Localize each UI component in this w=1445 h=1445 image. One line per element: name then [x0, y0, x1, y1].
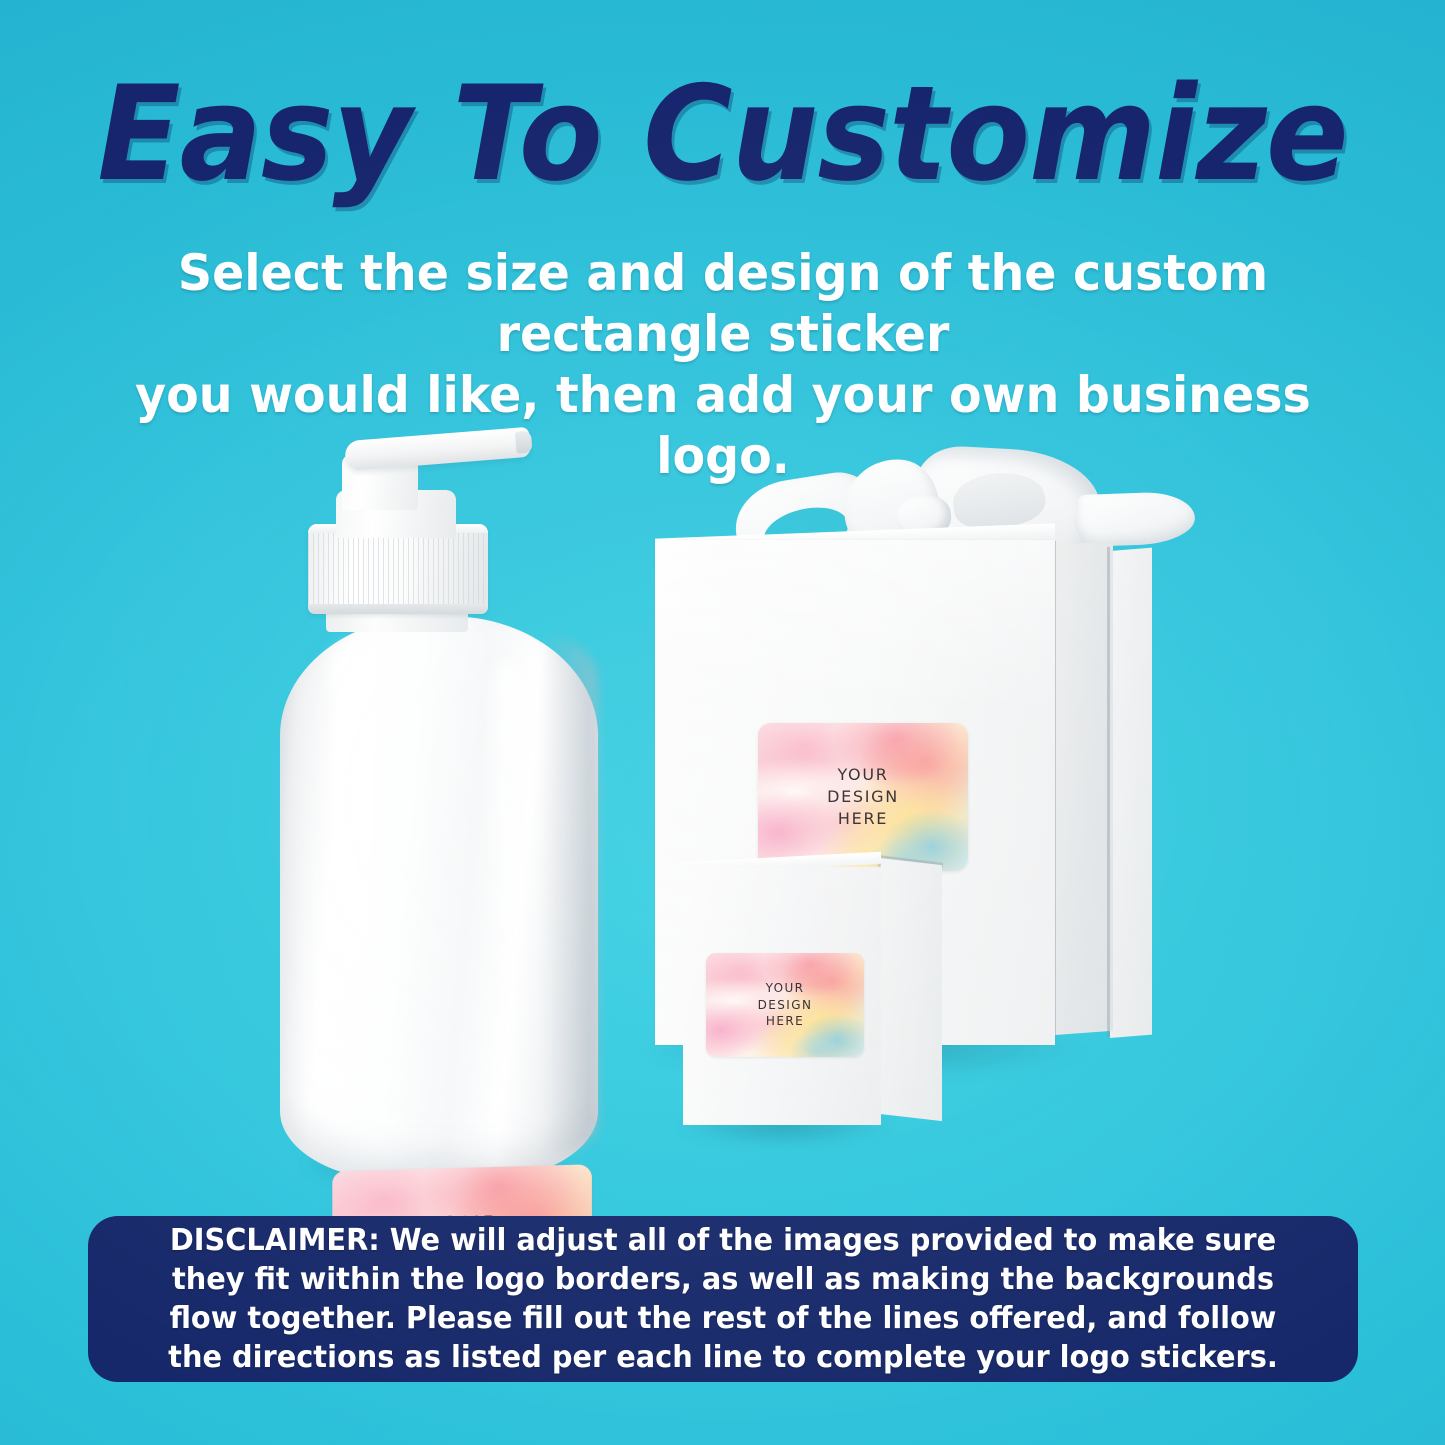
bottle-highlight-left	[332, 645, 376, 1075]
product-mockup-scene: YOUR DESIGN HERE	[0, 380, 1445, 1210]
sticker-line-3: HERE	[838, 808, 888, 830]
subtitle-line-1: Select the size and design of the custom…	[105, 243, 1340, 365]
small-product-box: YOUR DESIGN HERE	[683, 855, 948, 1130]
page-title: Easy To Customize	[51, 66, 1395, 202]
sticker-line-2: DESIGN	[758, 997, 813, 1014]
sticker-line-1: YOUR	[766, 980, 805, 997]
gift-box-side-panel	[1055, 541, 1113, 1035]
disclaimer-text: DISCLAIMER: We will adjust all of the im…	[157, 1221, 1290, 1377]
sticker-on-small-box[interactable]: YOUR DESIGN HERE	[706, 953, 864, 1057]
sticker-text-gift: YOUR DESIGN HERE	[758, 723, 968, 871]
pump-bottle: YOUR DESIGN HERE	[280, 420, 620, 1190]
sticker-line-1: YOUR	[837, 764, 888, 786]
bottle-highlight-right	[494, 660, 524, 1040]
sticker-on-gift-box[interactable]: YOUR DESIGN HERE	[758, 723, 968, 871]
gift-box-edge-back	[1107, 547, 1110, 1037]
sticker-line-3: HERE	[766, 1013, 804, 1030]
disclaimer-banner: DISCLAIMER: We will adjust all of the im…	[88, 1216, 1358, 1382]
disclaimer-label: DISCLAIMER:	[170, 1223, 380, 1258]
sticker-text-small-box: YOUR DESIGN HERE	[706, 953, 864, 1057]
gift-box-back-panel	[1110, 548, 1152, 1038]
sticker-line-2: DESIGN	[827, 786, 899, 808]
promo-banner: Easy To Customize Select the size and de…	[0, 0, 1445, 1445]
pump-nozzle-icon[interactable]	[344, 427, 531, 471]
small-box-side-panel	[880, 858, 942, 1121]
bottle-shading	[542, 635, 598, 1155]
